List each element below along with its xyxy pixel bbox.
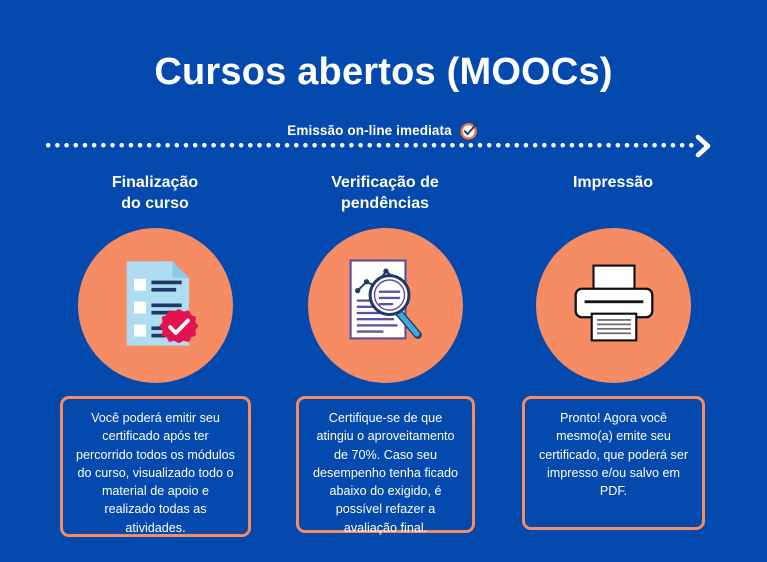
printer-icon: [565, 262, 663, 349]
step-description-box-verificacao: Certifique-se de que atingiu o aproveita…: [296, 396, 475, 533]
step-icon-circle-finalizacao: [78, 228, 233, 383]
subtitle-text: Emissão on-line imediata: [287, 123, 451, 138]
progress-arrow-dots: [46, 143, 694, 148]
subtitle-row: Emissão on-line imediata: [0, 120, 767, 141]
document-magnifier-icon: [340, 255, 432, 356]
step-column-impressao: Impressão: [493, 172, 733, 222]
step-icon-circle-verificacao: [308, 228, 463, 383]
progress-arrow: [46, 141, 696, 151]
step-description-box-finalizacao: Você poderá emitir seu certificado após …: [60, 396, 251, 537]
step-heading: Impressão: [493, 172, 733, 222]
check-badge-icon: [459, 120, 480, 141]
infographic-canvas: Cursos abertos (MOOCs) Emissão on-line i…: [0, 0, 767, 562]
step-description: Certifique-se de que atingiu o aproveita…: [311, 409, 460, 537]
step-description-box-impressao: Pronto! Agora você mesmo(a) emite seu ce…: [522, 396, 705, 530]
step-icons-band: [0, 228, 767, 383]
page-title: Cursos abertos (MOOCs): [0, 52, 767, 94]
step-column-verificacao: Verificação de pendências: [265, 172, 505, 222]
chevron-right-icon: [691, 133, 717, 159]
step-column-finalizacao: Finalização do curso: [35, 172, 275, 222]
step-description: Você poderá emitir seu certificado após …: [75, 409, 236, 537]
checklist-document-icon: [110, 254, 202, 358]
step-heading: Verificação de pendências: [265, 172, 505, 222]
step-icon-circle-impressao: [536, 228, 691, 383]
step-description: Pronto! Agora você mesmo(a) emite seu ce…: [537, 409, 690, 500]
step-heading: Finalização do curso: [35, 172, 275, 222]
